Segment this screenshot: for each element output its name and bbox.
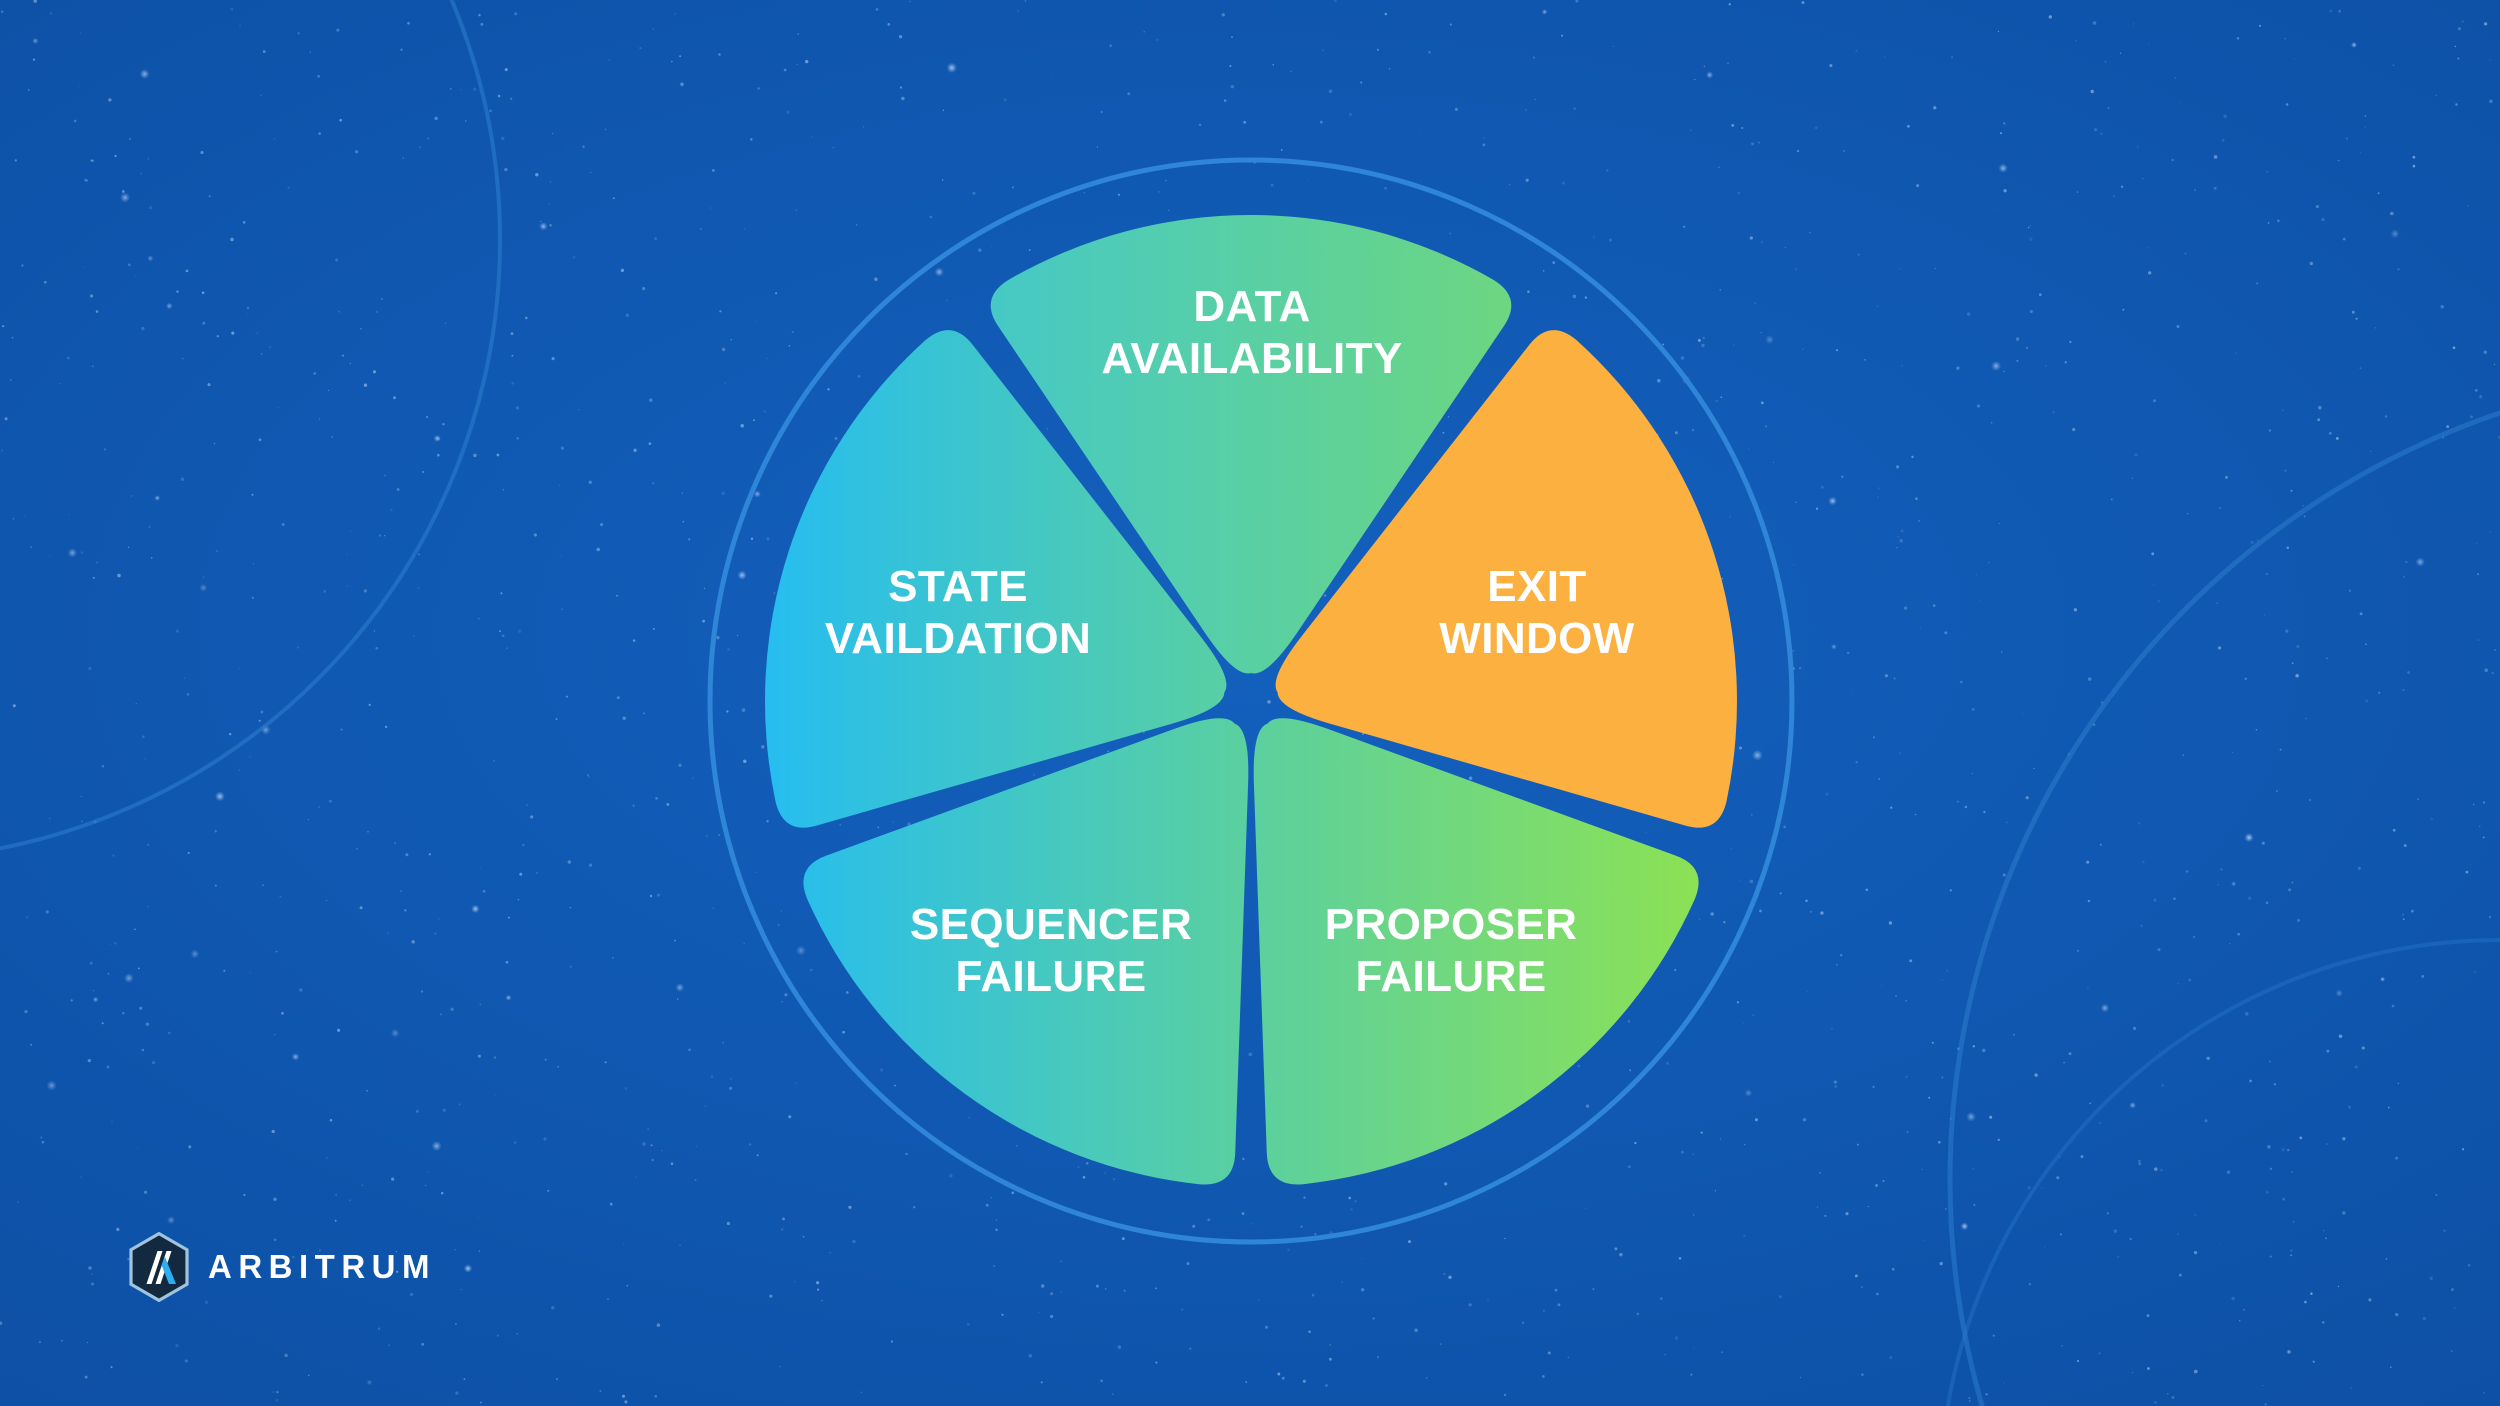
arbitrum-wordmark: ARBITRUM — [208, 1248, 436, 1286]
arbitrum-hexagon-logo-icon — [128, 1232, 190, 1302]
poster-canvas: DATAAVAILABILITYEXITWINDOWPROPOSERFAILUR… — [0, 0, 2500, 1406]
arbitrum-logo[interactable]: ARBITRUM — [128, 1232, 436, 1302]
risk-pie-chart — [0, 0, 2500, 1406]
